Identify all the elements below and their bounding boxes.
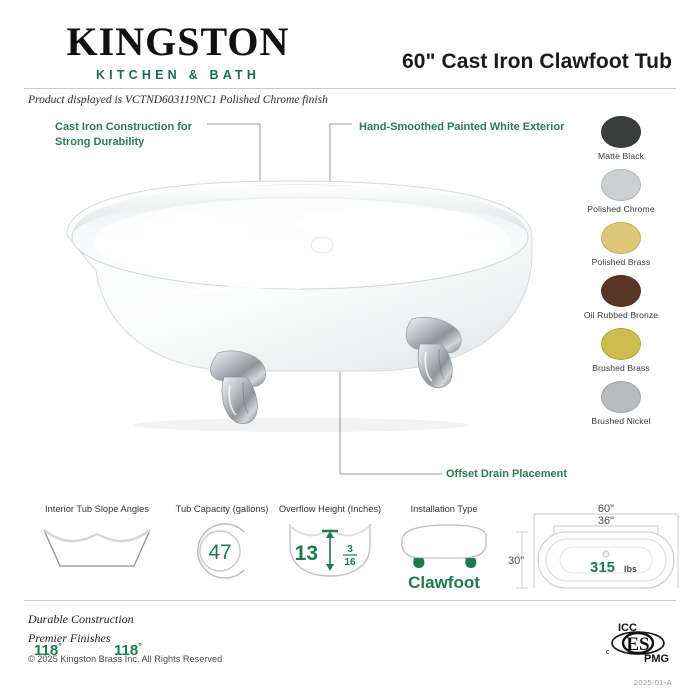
copyright-text: © 2025 Kingston Brass Inc. All Rights Re… [28,654,222,664]
brand-name: KINGSTON [28,22,328,62]
tub-weight: 315 [590,559,615,576]
spec-dimensions: 60" 36" 30" 315 lbs [506,502,686,599]
dimension-width: 36" [598,515,614,527]
header: KINGSTON KITCHEN & BATH 60" Cast Iron Cl… [0,0,700,92]
finish-swatch-brushed-brass [601,328,641,360]
spec-title: Tub Capacity (gallons) [172,504,272,516]
callout-drain: Offset Drain Placement [446,467,596,482]
footer-tagline-1: Durable Construction [28,612,222,627]
capacity-gauge-icon: 47 [172,520,272,582]
finish-option[interactable]: Matte Black [560,116,682,161]
tub-dimension-diagram: 60" 36" 30" 315 lbs [506,502,686,594]
callout-exterior: Hand-Smoothed Painted White Exterior [359,120,574,135]
finish-label: Matte Black [560,151,682,161]
finish-option[interactable]: Polished Brass [560,222,682,267]
finish-label: Oil Rubbed Bronze [560,310,682,320]
cert-prefix-label: c [606,649,610,656]
header-divider [24,88,676,89]
spec-slope-angles: Interior Tub Slope Angles 118° 118° [22,504,172,583]
finish-swatch-polished-chrome [601,169,641,201]
dimension-length: 60" [598,503,614,515]
overflow-height-icon: 13 3 16 [274,520,386,582]
icc-es-pmg-certification-icon: ICC ES PMG c [602,618,674,666]
spec-icon-row: Interior Tub Slope Angles 118° 118° Tub … [0,500,700,595]
tub-slope-icon [22,520,172,578]
finish-label: Brushed Brass [560,363,682,373]
dimension-height: 30" [508,555,524,567]
spec-title: Interior Tub Slope Angles [22,504,172,516]
document-code: 2025-01-A [634,678,672,687]
brand-tagline: KITCHEN & BATH [28,68,328,82]
spec-title: Overflow Height (Inches) [274,504,386,516]
cert-pmg-label: PMG [644,653,669,665]
installation-value: Clawfoot [392,573,496,593]
finish-option[interactable]: Polished Chrome [560,169,682,214]
clawfoot-tub-illustration [40,175,560,440]
finish-swatch-oil-rubbed-bronze [601,275,641,307]
capacity-value: 47 [208,541,231,564]
claw-foot-left [210,351,265,424]
spec-installation-type: Installation Type Clawfoot [392,504,496,593]
finish-label: Polished Brass [560,257,682,267]
footer-tagline-2: Premier Finishes [28,631,222,646]
spec-overflow-height: Overflow Height (Inches) 13 3 16 [274,504,386,587]
spec-tub-capacity: Tub Capacity (gallons) 47 [172,504,272,587]
finish-option[interactable]: Brushed Nickel [560,381,682,426]
overflow-numerator: 3 [347,544,353,555]
finish-swatch-matte-black [601,116,641,148]
finish-label: Brushed Nickel [560,416,682,426]
finish-option[interactable]: Brushed Brass [560,328,682,373]
finish-label: Polished Chrome [560,204,682,214]
finish-swatch-brushed-nickel [601,381,641,413]
footer: Durable Construction Premier Finishes © … [28,612,222,664]
product-note: Product displayed is VCTND603119NC1 Poli… [28,94,328,106]
footer-divider [24,600,676,601]
tub-weight-unit: lbs [624,564,637,574]
finish-swatch-list: Matte Black Polished Chrome Polished Bra… [560,116,682,434]
finish-option[interactable]: Oil Rubbed Bronze [560,275,682,320]
brand-logo: KINGSTON KITCHEN & BATH [28,22,328,82]
finish-swatch-polished-brass [601,222,641,254]
clawfoot-install-icon [392,520,496,568]
cert-es-label: ES [626,634,649,655]
overflow-denominator: 16 [344,557,356,568]
spec-sheet: KINGSTON KITCHEN & BATH 60" Cast Iron Cl… [0,0,700,700]
spec-title: Installation Type [392,504,496,516]
callout-cast-iron: Cast Iron Construction for Strong Durabi… [55,120,230,150]
overflow-whole: 13 [295,542,318,565]
page-title: 60" Cast Iron Clawfoot Tub [402,50,672,74]
